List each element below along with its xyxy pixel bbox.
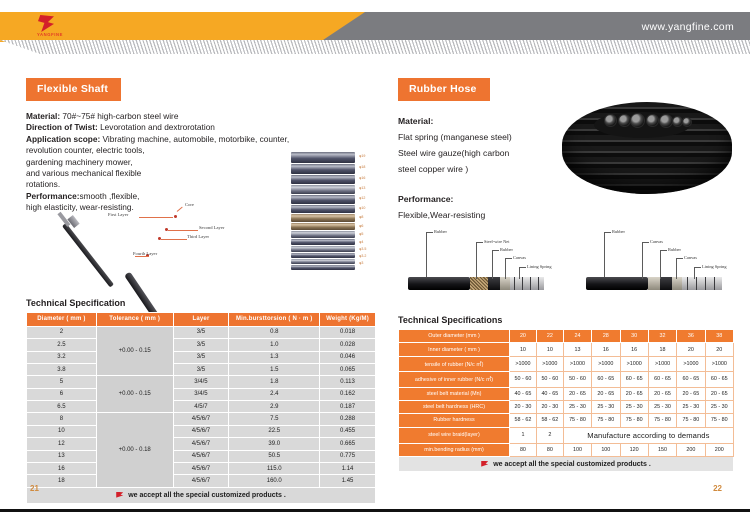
cell: 10 [510, 343, 537, 356]
shaft-rod [291, 231, 355, 238]
cell: >1000 [592, 356, 620, 371]
shaft-rod [291, 265, 355, 270]
xs-lead [492, 250, 493, 279]
cell-diameter: 12 [27, 438, 97, 450]
cell-diameter: 6.5 [27, 401, 97, 413]
table-row: 2.5 3/5 1.0 0.028 [27, 339, 376, 351]
xs-lead [660, 250, 661, 279]
desc-label: Material: [26, 111, 60, 121]
cell: 120 [620, 444, 648, 457]
cell: 25 - 30 [563, 400, 591, 413]
page-header: YANGFINE www.yangfine.com [0, 12, 750, 42]
cell: 13 [563, 343, 591, 356]
cell-torsion: 1.0 [229, 339, 320, 351]
table-row: tensile of rubber (N/c ㎡) >1000 >1000 >1… [399, 356, 734, 371]
table-row: 6 3/4/5 2.4 0.162 [27, 388, 376, 400]
cell: 20 - 65 [620, 387, 648, 400]
rubber-hose-spec-table-container: Technical Specifications Outer diameter … [398, 315, 734, 472]
table-row: 8 +0.00 - 0.18 4/5/6/7 7.5 0.288 [27, 413, 376, 425]
cell-weight: 0.028 [320, 339, 376, 351]
left-table-title: Technical Specification [26, 298, 376, 308]
cell-layer: 3/5 [173, 351, 229, 363]
hose-cross-section-diagrams: Rubber Steel-wire Net Rubber Canvas Lini… [398, 218, 734, 296]
shaft-rod [291, 195, 355, 204]
col-header-28: 28 [592, 330, 620, 343]
row-header-adhesive-inner-rubber: adhesive of inner rubber (N/c ㎡) [399, 372, 510, 387]
cell-weight: 0.065 [320, 363, 376, 375]
cell-layer: 3/5 [173, 339, 229, 351]
cell-layer: 4/5/6/7 [173, 438, 229, 450]
cell: 25 - 30 [648, 400, 676, 413]
xs-rubber-outer [586, 277, 648, 290]
row-header-tensile-rubber: tensile of rubber (N/c ㎡) [399, 356, 510, 371]
shaft-body [62, 223, 114, 288]
cell: 25 - 30 [592, 400, 620, 413]
col-header-weight: Weight (Kg/M) [320, 313, 376, 327]
logo-wordmark: YANGFINE [28, 32, 72, 37]
shaft-rod [291, 205, 355, 213]
layer-lead-core [139, 217, 173, 218]
size-label: φ16 [359, 176, 365, 180]
page-number-right: 22 [713, 484, 722, 493]
cell: 60 - 65 [620, 372, 648, 387]
size-label: φ8 [359, 215, 363, 219]
desc-text: Levorotation and dextrorotation [98, 122, 215, 132]
cell: 58 - 62 [510, 414, 537, 427]
shaft-rod [291, 253, 355, 258]
header-hatch-stripe [0, 40, 750, 54]
shaft-rod [291, 246, 355, 252]
cell: 20 - 65 [705, 387, 733, 400]
cell: 150 [648, 444, 676, 457]
cell: 75 - 80 [563, 414, 591, 427]
page-number-left: 21 [30, 484, 39, 493]
layer-lead-second [168, 230, 198, 231]
xs-label-canvas: Canvas [513, 255, 526, 260]
cell: 60 - 65 [592, 372, 620, 387]
cell-layer: 4/5/6/7 [173, 462, 229, 474]
cell-torsion: 1.5 [229, 363, 320, 375]
xs-lead [694, 267, 695, 279]
cell-layer: 4/5/6/7 [173, 425, 229, 437]
size-label: φ3.5 [359, 247, 366, 251]
col-header-36: 36 [677, 330, 705, 343]
size-label: φ13 [359, 186, 365, 190]
desc-line: Material: 70#~75# high-carbon steel wire [26, 111, 376, 122]
table-header-row: Diameter ( mm ) Tolerance ( mm ) Layer M… [27, 313, 376, 327]
cell: 25 - 30 [705, 400, 733, 413]
shaft-size-bundle [291, 152, 355, 282]
row-header-steel-wire-braid: steel wire braid(layer) [399, 427, 510, 443]
cell: 40 - 65 [510, 387, 537, 400]
xs-rubber-outer [408, 277, 470, 290]
cell: 50 - 60 [510, 372, 537, 387]
cell-diameter: 16 [27, 462, 97, 474]
cell-diameter: 10 [27, 425, 97, 437]
cell-weight: 0.775 [320, 450, 376, 462]
shaft-rod [291, 152, 355, 163]
section-title-flexible-shaft: Flexible Shaft [26, 78, 121, 101]
table-row: 2 +0.00 - 0.15 3/5 0.8 0.018 [27, 326, 376, 338]
catalog-page: YANGFINE www.yangfine.com Flexible Shaft… [0, 0, 750, 512]
layer-label-core: Core [185, 202, 194, 207]
cell: 20 [677, 343, 705, 356]
cell: 20 [705, 343, 733, 356]
shaft-rod [291, 259, 355, 264]
flexible-shaft-artwork: First Layer Core Second Layer Third Laye… [26, 160, 376, 290]
cell: >1000 [620, 356, 648, 371]
rubber-hose-spec-table: Outer diameter (mm ) 20 22 24 28 30 32 3… [398, 329, 734, 472]
cell-layer: 3/4/5 [173, 388, 229, 400]
cell: 200 [677, 444, 705, 457]
cell: 75 - 80 [705, 414, 733, 427]
cell-torsion: 50.5 [229, 450, 320, 462]
cell: 16 [592, 343, 620, 356]
layer-lead-third [161, 239, 187, 240]
xs-rubber-inner [488, 277, 500, 290]
table-row: Outer diameter (mm ) 20 22 24 28 30 32 3… [399, 330, 734, 343]
cell: 20 - 30 [510, 400, 537, 413]
left-table-note: we accept all the special customized pro… [128, 492, 286, 499]
cell-tolerance: +0.00 - 0.15 [96, 376, 173, 413]
cell-weight: 0.162 [320, 388, 376, 400]
xs-lead [519, 267, 520, 279]
table-row: 12 4/5/6/7 39.0 0.665 [27, 438, 376, 450]
logo-flag-icon [38, 15, 54, 32]
xs-label-rubber-outer: Rubber [612, 229, 625, 234]
desc-text: Vibrating machine, automobile, motorbike… [100, 134, 289, 144]
cell: 25 - 30 [620, 400, 648, 413]
xs-tick [694, 267, 701, 268]
shaft-rod [291, 214, 355, 222]
size-label: φ19 [359, 154, 365, 158]
cell-layer: 4/5/6/7 [173, 413, 229, 425]
xs-tick [604, 232, 611, 233]
cell-torsion: 2.4 [229, 388, 320, 400]
shaft-size-labels: φ19 φ18 φ16 φ13 φ12 φ10 φ8 φ6 φ5 φ4 φ3.5… [359, 152, 385, 284]
table-row: Rubber hardness 58 - 62 58 - 62 75 - 80 … [399, 414, 734, 427]
cell: 80 [510, 444, 537, 457]
row-header-steel-belt-hardness: steel belt hardness (HRC) [399, 400, 510, 413]
cell-diameter: 2 [27, 326, 97, 338]
size-label: φ3.2 [359, 254, 366, 258]
xs-lining-spring [682, 277, 722, 290]
table-row: adhesive of inner rubber (N/c ㎡) 50 - 60… [399, 372, 734, 387]
layer-lead-core-up [177, 207, 183, 212]
cell-layer: 3/5 [173, 326, 229, 338]
cell-weight: 1.45 [320, 475, 376, 487]
xs-tick [519, 267, 526, 268]
table-row: 18 4/5/6/7 160.0 1.45 [27, 475, 376, 487]
cell: >1000 [677, 356, 705, 371]
row-header-min-bending-radius: min.bending radius (mm) [399, 444, 510, 457]
cell-diameter: 13 [27, 450, 97, 462]
cell: 2 [536, 427, 563, 443]
xs-tick [505, 258, 512, 259]
cell: >1000 [536, 356, 563, 371]
desc-text: 70#~75# high-carbon steel wire [60, 111, 178, 121]
cell-torsion: 160.0 [229, 475, 320, 487]
col-header-tolerance: Tolerance ( mm ) [96, 313, 173, 327]
xs-canvas-inner [672, 277, 682, 290]
cell: >1000 [510, 356, 537, 371]
xs-lead [426, 232, 427, 277]
rubber-hose-coil-photo [556, 84, 740, 210]
cell-torsion: 7.5 [229, 413, 320, 425]
shaft-rod [291, 185, 355, 194]
cell-layer: 4/5/6/7 [173, 450, 229, 462]
xs-label-steel-wire-net: Steel-wire Net [484, 239, 509, 244]
cell: 100 [563, 444, 591, 457]
xs-lead [642, 242, 643, 279]
cell-layer: 4/5/6/7 [173, 475, 229, 487]
section-title-rubber-hose: Rubber Hose [398, 78, 490, 101]
cell: 60 - 65 [705, 372, 733, 387]
table-row: Inner diameter ( mm ) 10 10 13 16 16 18 … [399, 343, 734, 356]
table-row: 10 4/5/6/7 22.5 0.455 [27, 425, 376, 437]
row-header-rubber-hardness: Rubber hardness [399, 414, 510, 427]
xs-lining-spring [510, 277, 544, 290]
cell-weight: 0.113 [320, 376, 376, 388]
xs-label-rubber-outer: Rubber [434, 229, 447, 234]
cell: 50 - 60 [536, 372, 563, 387]
table-row: 13 4/5/6/7 50.5 0.775 [27, 450, 376, 462]
col-header-diameter: Diameter ( mm ) [27, 313, 97, 327]
right-table-note: we accept all the special customized pro… [493, 461, 651, 468]
shaft-rod [291, 239, 355, 245]
size-label: φ6 [359, 224, 363, 228]
hose-end-fitting [646, 114, 659, 127]
cell-layer: 3/4/5 [173, 376, 229, 388]
layer-lead-fourth [135, 256, 149, 257]
cell-diameter: 2.5 [27, 339, 97, 351]
xs-label-lining-spring: Lining Spring [527, 264, 552, 269]
size-label: φ4 [359, 240, 363, 244]
shaft-rod [291, 175, 355, 184]
row-header-steel-belt-material: steel belt material (Mn) [399, 387, 510, 400]
hose-end-fitting [659, 114, 673, 128]
col-header-30: 30 [620, 330, 648, 343]
cell: 58 - 62 [536, 414, 563, 427]
cell: >1000 [563, 356, 591, 371]
hose-end-fitting [682, 117, 692, 127]
cell: 60 - 65 [677, 372, 705, 387]
desc-label: Direction of Twist: [26, 122, 98, 132]
cell: 75 - 80 [648, 414, 676, 427]
brand-logo: YANGFINE [28, 15, 72, 40]
xs-tick [476, 242, 483, 243]
xs-tick [492, 250, 499, 251]
cell-torsion: 2.9 [229, 401, 320, 413]
cell-torsion: 115.0 [229, 462, 320, 474]
cell-torsion: 39.0 [229, 438, 320, 450]
cell: >1000 [705, 356, 733, 371]
size-label: φ3 [359, 261, 363, 265]
cell-tolerance: +0.00 - 0.18 [96, 413, 173, 487]
cell: 50 - 60 [563, 372, 591, 387]
xs-label-canvas-outer: Canvas [650, 239, 663, 244]
cell: 10 [536, 343, 563, 356]
row-header-inner-diameter: Inner diameter ( mm ) [399, 343, 510, 356]
cell-torsion: 22.5 [229, 425, 320, 437]
table-row: steel wire braid(layer) 1 2 Manufacture … [399, 427, 734, 443]
size-label: φ12 [359, 196, 365, 200]
cell: 20 - 65 [648, 387, 676, 400]
table-row: steel belt hardness (HRC) 20 - 30 20 - 3… [399, 400, 734, 413]
cell-diameter: 6 [27, 388, 97, 400]
layer-label-second: Second Layer [199, 225, 224, 230]
xs-tick [676, 258, 683, 259]
hose-cross-section-right: Rubber Canvas Rubber Canvas Lining Sprin… [584, 218, 742, 296]
col-header-22: 22 [536, 330, 563, 343]
cell-weight: 0.018 [320, 326, 376, 338]
layer-label-first: First Layer [108, 212, 128, 217]
cell-torsion: 0.8 [229, 326, 320, 338]
shaft-layer-diagram: First Layer Core Second Layer Third Laye… [121, 178, 291, 286]
cell-diameter: 5 [27, 376, 97, 388]
left-table-note-cell: we accept all the special customized pro… [27, 487, 376, 503]
table-row: 3.2 3/5 1.3 0.046 [27, 351, 376, 363]
right-table-note-cell: we accept all the special customized pro… [399, 457, 734, 471]
cell-layer: 4/5/7 [173, 401, 229, 413]
right-table-title: Technical Specifications [398, 315, 734, 325]
xs-lead [476, 242, 477, 279]
layer-label-third: Third Layer [187, 234, 209, 239]
shaft-nut [67, 215, 79, 228]
xs-lead [676, 258, 677, 279]
flag-icon [116, 492, 123, 498]
hose-end-fitting [630, 113, 645, 128]
desc-label: Application scope: [26, 134, 100, 144]
cell: 75 - 80 [677, 414, 705, 427]
col-header-layer: Layer [173, 313, 229, 327]
flexible-shaft-spec-table-container: Technical Specification Diameter ( mm ) … [26, 298, 376, 504]
cell: 60 - 65 [648, 372, 676, 387]
cell-weight: 1.14 [320, 462, 376, 474]
layer-label-fourth: Fourth Layer [133, 251, 157, 256]
xs-tick [660, 250, 667, 251]
cell-manufacture-note: Manufacture according to demands [563, 427, 733, 443]
cell: 40 - 65 [536, 387, 563, 400]
size-label: φ5 [359, 232, 363, 236]
col-header-torsion: Min.bursttorsion ( N · m ) [229, 313, 320, 327]
cell-torsion: 1.8 [229, 376, 320, 388]
col-header-32: 32 [648, 330, 676, 343]
table-row: 16 4/5/6/7 115.0 1.14 [27, 462, 376, 474]
xs-label-rubber-inner: Rubber [668, 247, 681, 252]
row-header-outer-diameter: Outer diameter (mm ) [399, 330, 510, 343]
desc-line: Application scope: Vibrating machine, au… [26, 134, 376, 145]
cell: >1000 [648, 356, 676, 371]
cell: 16 [620, 343, 648, 356]
size-label: φ18 [359, 165, 365, 169]
cell-weight: 0.665 [320, 438, 376, 450]
cell: 80 [536, 444, 563, 457]
cell: 100 [592, 444, 620, 457]
cell: 75 - 80 [592, 414, 620, 427]
cell: 20 - 65 [592, 387, 620, 400]
xs-label-rubber-inner: Rubber [500, 247, 513, 252]
cell-weight: 0.288 [320, 413, 376, 425]
table-row: steel belt material (Mn) 40 - 65 40 - 65… [399, 387, 734, 400]
table-note-row: we accept all the special customized pro… [399, 457, 734, 471]
size-label: φ10 [359, 206, 365, 210]
table-row: 6.5 4/5/7 2.9 0.187 [27, 401, 376, 413]
shaft-rod [291, 223, 355, 230]
material-title: Material: [398, 116, 433, 126]
table-row: 3.8 3/5 1.5 0.065 [27, 363, 376, 375]
website-url[interactable]: www.yangfine.com [642, 12, 734, 42]
desc-line: Direction of Twist: Levorotation and dex… [26, 122, 376, 133]
xs-rubber-inner [660, 277, 672, 290]
cell: 20 - 30 [536, 400, 563, 413]
cell-weight: 0.187 [320, 401, 376, 413]
xs-label-lining-spring: Lining Spring [702, 264, 727, 269]
cell: 20 - 65 [677, 387, 705, 400]
desc-text: revolution counter, electric tools, [26, 145, 145, 155]
col-header-38: 38 [705, 330, 733, 343]
cell: 20 - 65 [563, 387, 591, 400]
flag-icon [481, 461, 488, 467]
table-note-row: we accept all the special customized pro… [27, 487, 376, 503]
table-row: 5 +0.00 - 0.15 3/4/5 1.8 0.113 [27, 376, 376, 388]
performance-title: Performance: [398, 194, 453, 204]
cell-weight: 0.046 [320, 351, 376, 363]
cell-weight: 0.455 [320, 425, 376, 437]
xs-canvas-outer [648, 277, 660, 290]
xs-label-canvas-inner: Canvas [684, 255, 697, 260]
xs-tick [426, 232, 433, 233]
cell-torsion: 1.3 [229, 351, 320, 363]
xs-tick [642, 242, 649, 243]
cell-diameter: 3.8 [27, 363, 97, 375]
cell: 25 - 30 [677, 400, 705, 413]
shaft-rod [291, 164, 355, 174]
table-row: min.bending radius (mm) 80 80 100 100 12… [399, 444, 734, 457]
xs-lead [604, 232, 605, 277]
xs-steel-wire-net [470, 277, 488, 290]
layer-dot-core [174, 215, 177, 218]
xs-lead [505, 258, 506, 279]
col-header-24: 24 [563, 330, 591, 343]
cell: 1 [510, 427, 537, 443]
cell-tolerance: +0.00 - 0.15 [96, 326, 173, 376]
hose-cross-section-left: Rubber Steel-wire Net Rubber Canvas Lini… [406, 218, 564, 296]
flexible-shaft-spec-table: Diameter ( mm ) Tolerance ( mm ) Layer M… [26, 312, 376, 504]
cell-diameter: 3.2 [27, 351, 97, 363]
cell: 75 - 80 [620, 414, 648, 427]
cell: 200 [705, 444, 733, 457]
col-header-20: 20 [510, 330, 537, 343]
cell-layer: 3/5 [173, 363, 229, 375]
cell-diameter: 8 [27, 413, 97, 425]
cell: 18 [648, 343, 676, 356]
hose-end-fitting [604, 114, 617, 127]
